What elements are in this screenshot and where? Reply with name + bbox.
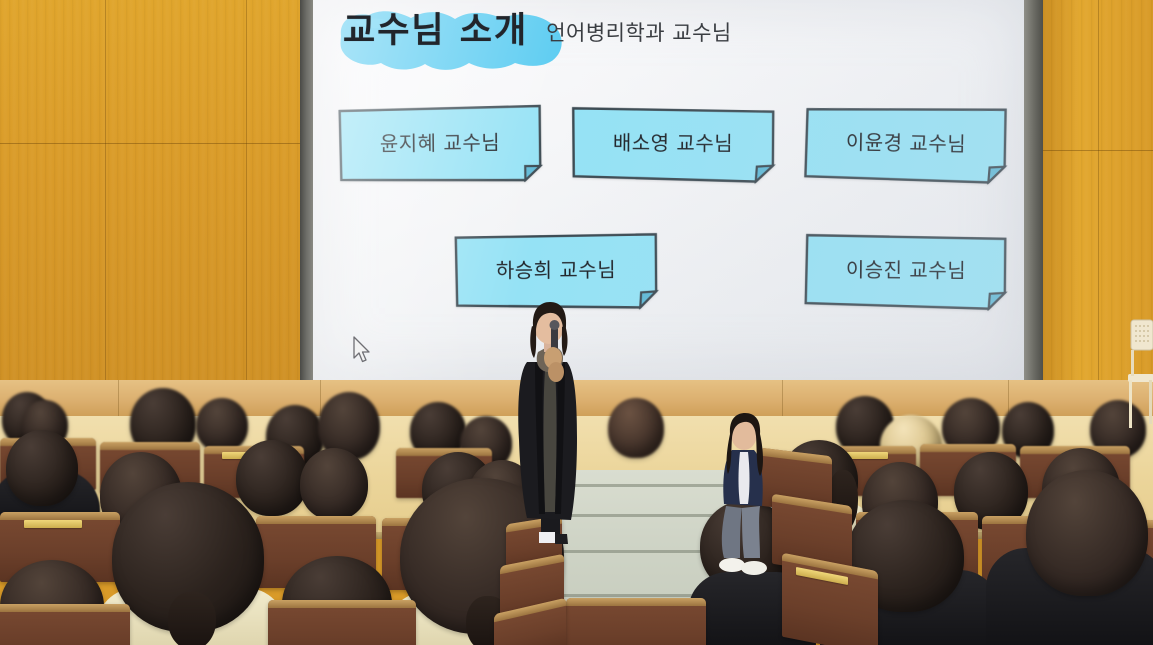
audience-head — [6, 430, 78, 506]
wall-panel-left — [0, 0, 302, 400]
wall-column-left — [300, 0, 314, 385]
projection-screen: 교수님 소개 언어병리학과 교수님 윤지혜 교수님 배소영 교수님 — [313, 0, 1024, 380]
professor-card[interactable]: 하승희 교수님 — [453, 231, 660, 310]
professor-card[interactable]: 이윤경 교수님 — [802, 103, 1009, 185]
white-stacking-chair — [1122, 318, 1153, 430]
audience-head — [196, 398, 248, 452]
auditorium-seat — [268, 600, 416, 645]
professor-card-label: 이승진 교수님 — [846, 253, 967, 289]
arrow-pointer-cursor[interactable] — [352, 336, 372, 364]
slide-title-block: 교수님 소개 언어병리학과 교수님 — [343, 12, 732, 51]
presenter-figure — [505, 300, 595, 545]
audience-head — [1026, 470, 1148, 596]
professor-card-row-bottom: 하승희 교수님 이승진 교수님 — [453, 232, 1009, 310]
slide-subtitle: 언어병리학과 교수님 — [546, 17, 732, 51]
audience-member-aisle — [718, 412, 794, 587]
slide-title: 교수님 소개 — [343, 12, 528, 51]
audience-head — [236, 440, 308, 516]
audience-head — [608, 398, 664, 458]
professor-card-label: 배소영 교수님 — [613, 126, 734, 162]
professor-card-row-top: 윤지혜 교수님 배소영 교수님 이윤경 교수님 — [337, 105, 1009, 183]
audience-head — [300, 448, 368, 520]
professor-card-label: 윤지혜 교수님 — [380, 126, 501, 162]
professor-card-label: 이윤경 교수님 — [846, 125, 967, 162]
wall-column-right — [1024, 0, 1043, 400]
professor-card[interactable]: 윤지혜 교수님 — [337, 104, 544, 184]
professor-card-label: 하승희 교수님 — [496, 253, 617, 289]
lecture-hall-scene: 교수님 소개 언어병리학과 교수님 윤지혜 교수님 배소영 교수님 — [0, 0, 1153, 645]
seat-nameplate — [24, 520, 82, 528]
auditorium-seat — [0, 604, 130, 645]
auditorium-seat — [566, 598, 706, 645]
professor-card[interactable]: 배소영 교수님 — [570, 104, 777, 183]
professor-card[interactable]: 이승진 교수님 — [803, 231, 1010, 311]
audience-ponytail — [168, 592, 216, 645]
